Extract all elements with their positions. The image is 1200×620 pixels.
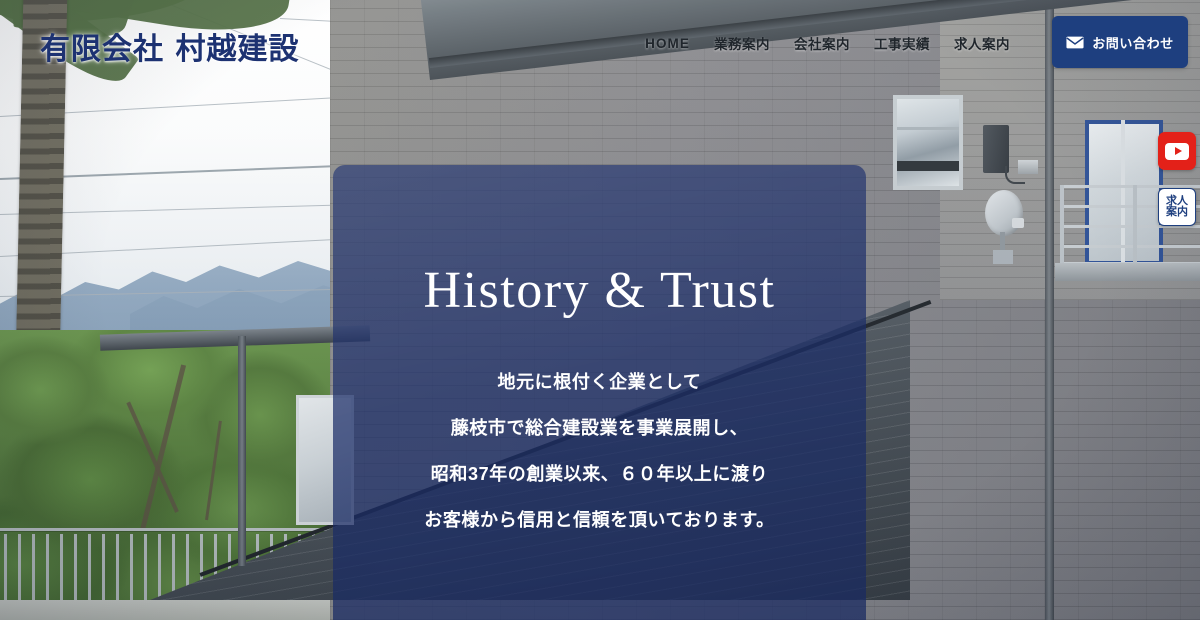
hero-panel: History & Trust 地元に根付く企業として 藤枝市で総合建設業を事業… [333, 165, 866, 620]
porch-post [238, 336, 246, 566]
upper-window [893, 95, 963, 190]
hero-body-line: 地元に根付く企業として [333, 359, 866, 405]
contact-button-label: お問い合わせ [1092, 33, 1174, 52]
nav-services[interactable]: 業務案内 [714, 33, 770, 53]
nav-company[interactable]: 会社案内 [794, 33, 850, 53]
balcony-rail [1060, 245, 1200, 248]
hero-body-line: お客様から信用と信頼を頂いております。 [333, 497, 866, 543]
recruit-badge-line2: 案内 [1166, 207, 1188, 218]
satellite-dish-mount [993, 250, 1013, 264]
floating-side-widgets: 求人 案内 [1158, 132, 1196, 226]
contact-button[interactable]: お問い合わせ [1052, 16, 1188, 68]
fence-rail [0, 528, 350, 531]
mail-icon [1066, 36, 1084, 49]
nav-works[interactable]: 工事実績 [874, 33, 930, 53]
page-root: History & Trust 地元に根付く企業として 藤枝市で総合建設業を事業… [0, 0, 1200, 620]
site-header: 有限会社 村越建設 HOME 業務案内 会社案内 工事実績 求人案内 お問い合わ… [0, 0, 1200, 84]
play-triangle-icon [1175, 147, 1182, 155]
hero-title: History & Trust [424, 265, 776, 317]
satellite-dish [985, 190, 1023, 236]
nav-recruit[interactable]: 求人案内 [954, 33, 1010, 53]
hero-body: 地元に根付く企業として 藤枝市で総合建設業を事業展開し、 昭和37年の創業以来、… [333, 359, 866, 543]
balcony-post [1060, 185, 1064, 265]
recruit-badge-icon[interactable]: 求人 案内 [1158, 188, 1196, 226]
youtube-screen [1165, 143, 1189, 160]
hero-body-line: 昭和37年の創業以来、６０年以上に渡り [333, 451, 866, 497]
main-navigation: HOME 業務案内 会社案内 工事実績 求人案内 [645, 33, 1010, 53]
hero-body-line: 藤枝市で総合建設業を事業展開し、 [333, 405, 866, 451]
balcony-post [1133, 185, 1137, 265]
downspout [1045, 0, 1054, 620]
balcony-slab [1055, 263, 1200, 281]
nav-home[interactable]: HOME [645, 36, 690, 51]
utility-meter [1018, 160, 1038, 174]
walkway [0, 600, 350, 620]
satellite-dish-lnb [1012, 218, 1024, 228]
site-logo[interactable]: 有限会社 村越建設 [40, 24, 299, 68]
youtube-icon[interactable] [1158, 132, 1196, 170]
